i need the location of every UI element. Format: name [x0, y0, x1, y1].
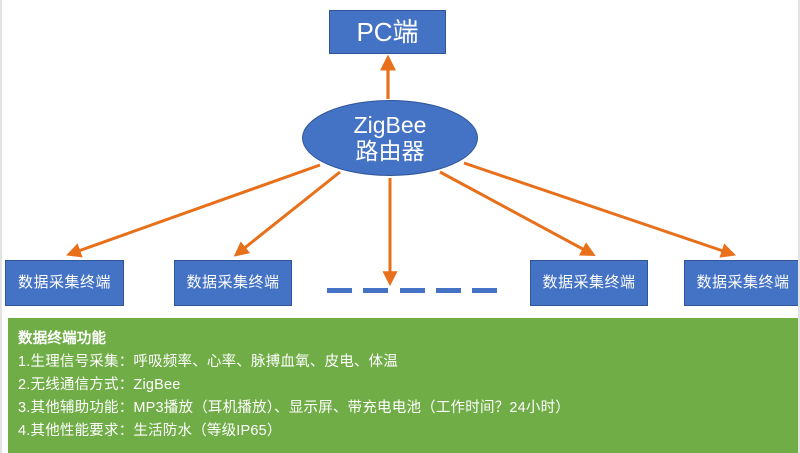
- data-terminal-label-1: 数据采集终端: [18, 275, 111, 292]
- dash-segment: [400, 288, 425, 293]
- ellipsis-dashed-line: [327, 288, 497, 293]
- info-panel-line-2: 2.无线通信方式：ZigBee: [18, 374, 800, 397]
- data-terminal-label-4: 数据采集终端: [696, 275, 789, 292]
- data-terminal-node-2[interactable]: 数据采集终端: [174, 260, 292, 306]
- dash-segment: [327, 288, 352, 293]
- info-panel-line-4: 4.其他性能要求：生活防水（等级IP65）: [18, 420, 800, 443]
- router-label-line1: ZigBee: [354, 112, 427, 138]
- router-label-line2: 路由器: [356, 138, 425, 164]
- zigbee-router-node[interactable]: ZigBee 路由器: [302, 100, 478, 176]
- data-terminal-label-2: 数据采集终端: [186, 275, 279, 292]
- pc-node-label: PC端: [356, 18, 418, 47]
- info-panel-heading: 数据终端功能: [18, 328, 800, 351]
- info-panel: 数据终端功能 1.生理信号采集：呼吸频率、心率、脉搏血氧、皮电、体温 2.无线通…: [8, 318, 800, 453]
- dash-segment: [472, 288, 497, 293]
- dash-segment: [436, 288, 461, 293]
- data-terminal-node-4[interactable]: 数据采集终端: [684, 260, 800, 306]
- data-terminal-node-3[interactable]: 数据采集终端: [530, 260, 648, 306]
- data-terminal-node-1[interactable]: 数据采集终端: [5, 260, 124, 306]
- info-panel-line-3: 3.其他辅助功能：MP3播放（耳机播放）、显示屏、带充电电池（工作时间？24小时…: [18, 397, 800, 420]
- dash-segment: [363, 288, 388, 293]
- diagram-canvas: PC端 ZigBee 路由器 数据采集终端 数据采集终端 数据采集终端 数据采集…: [0, 0, 800, 453]
- info-panel-line-1: 1.生理信号采集：呼吸频率、心率、脉搏血氧、皮电、体温: [18, 351, 800, 374]
- data-terminal-label-3: 数据采集终端: [542, 275, 635, 292]
- arrow-router-to-terminal-2: [237, 172, 340, 254]
- arrow-router-to-terminal-1: [70, 165, 320, 254]
- pc-node[interactable]: PC端: [329, 10, 446, 54]
- arrow-router-to-terminal-4: [464, 163, 732, 254]
- arrow-router-to-terminal-3: [440, 172, 592, 254]
